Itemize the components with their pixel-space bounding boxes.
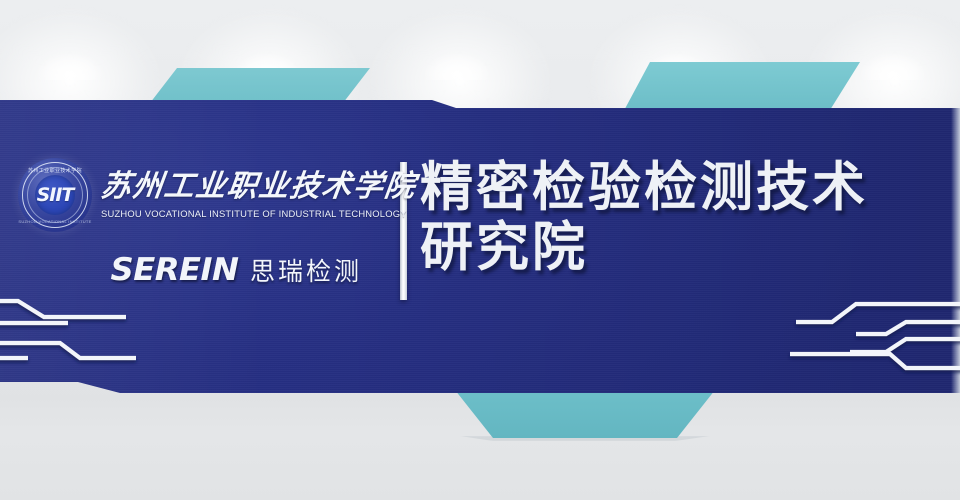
school-seal-icon: 苏州工业职业技术学院 SIIT SUZHOU VOCATIONAL INSTIT… [18,158,92,232]
signage-scene: 苏州工业职业技术学院 SIIT SUZHOU VOCATIONAL INSTIT… [0,0,960,500]
institute-title: 精密检验检测技术 研究院 [420,158,950,279]
logo-lockup: 苏州工业职业技术学院 SIIT SUZHOU VOCATIONAL INSTIT… [18,158,390,300]
seal-arc-text-bottom: SUZHOU VOCATIONAL INSTITUTE [18,219,92,224]
seal-monogram: SIIT [18,184,92,206]
institute-title-line-2: 研究院 [420,218,950,278]
school-name-group: 苏州工业职业技术学院 SUZHOU VOCATIONAL INSTITUTE O… [101,171,416,218]
serein-name-cn: 思瑞检测 [250,252,362,288]
teal-trapezoid-bottom [455,390,715,438]
panel-right-edge-highlight [951,108,960,398]
school-name-en: SUZHOU VOCATIONAL INSTITUTE OF INDUSTRIA… [101,208,416,219]
seal-arc-text-top: 苏州工业职业技术学院 [18,167,92,174]
serein-wordmark: SEREIN [111,252,239,288]
school-logo-row: 苏州工业职业技术学院 SIIT SUZHOU VOCATIONAL INSTIT… [18,158,390,232]
partner-logo-row: SEREIN 思瑞检测 [113,252,390,288]
institute-title-line-1: 精密检验检测技术 [420,158,868,217]
school-name-cn: 苏州工业职业技术学院 [99,171,418,203]
